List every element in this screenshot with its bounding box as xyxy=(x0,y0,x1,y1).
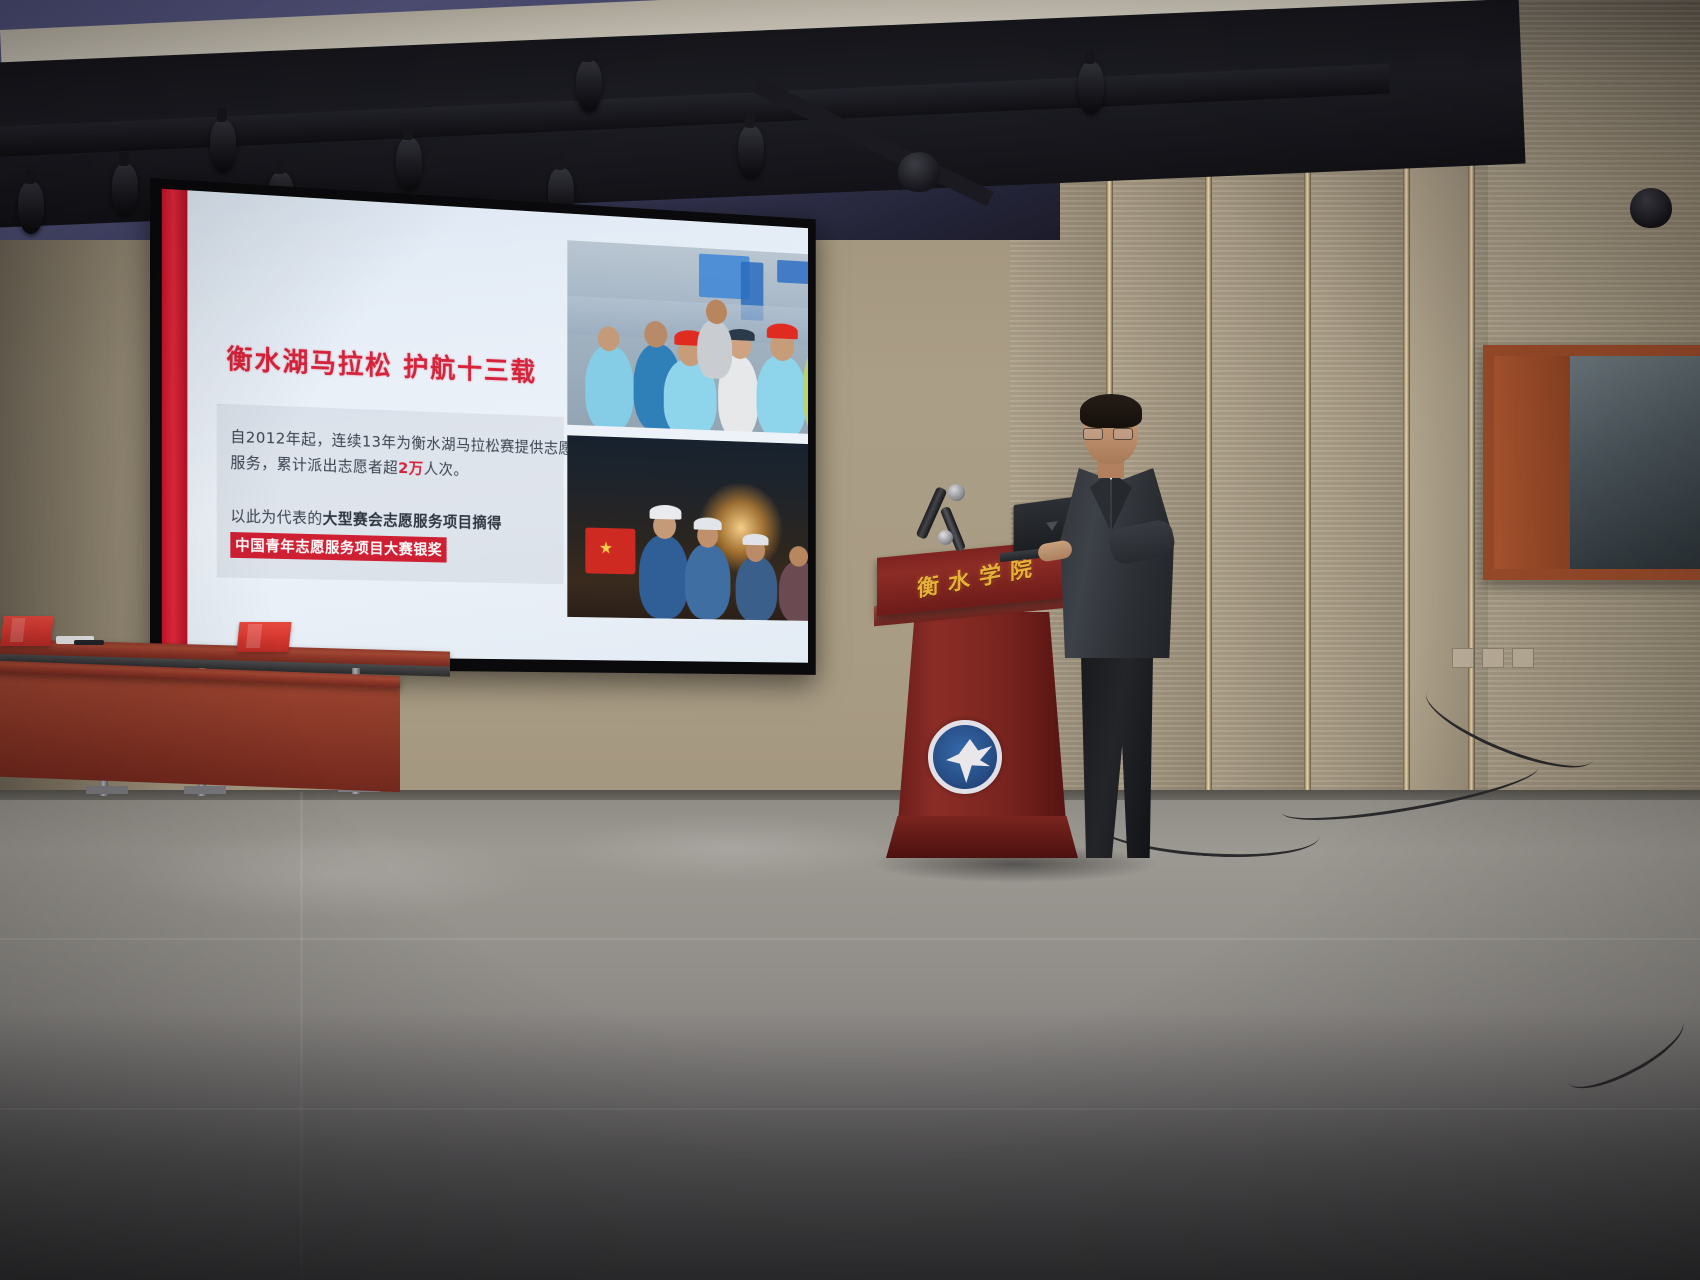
paragraph-2-highlight: 2万 xyxy=(398,459,423,477)
window-jamb xyxy=(1494,356,1574,569)
speaker-hair xyxy=(1080,394,1142,428)
conference-hall-scene: 衡水湖马拉松 护航十三载 自2012年起，连续13年为衡水湖马拉松赛提供志愿 服… xyxy=(0,0,1700,1280)
stage-spotlight-icon xyxy=(576,60,602,112)
presentation-slide: 衡水湖马拉松 护航十三载 自2012年起，连续13年为衡水湖马拉松赛提供志愿 服… xyxy=(162,189,808,663)
floor-reflection xyxy=(120,830,540,920)
speaker-legs xyxy=(1074,650,1160,858)
university-dove-emblem xyxy=(928,720,1002,794)
photo-white-cap xyxy=(743,534,769,546)
floor-seam xyxy=(0,938,1700,940)
stage-spotlight-icon xyxy=(112,164,138,216)
photo-volunteer xyxy=(779,561,808,622)
paragraph-3-bold: 大型赛会志愿服务项目摘得 xyxy=(323,510,502,532)
table-nameplate xyxy=(0,616,53,646)
floor-reflection xyxy=(560,812,900,882)
projection-screen: 衡水湖马拉松 护航十三载 自2012年起，连续13年为衡水湖马拉松赛提供志愿 服… xyxy=(150,178,816,675)
photo-volunteer xyxy=(639,535,688,619)
paragraph-2-prefix: 服务，累计派出志愿者超 xyxy=(230,454,398,477)
microphone-head-icon xyxy=(948,484,965,501)
award-banner: 中国青年志愿服务项目大赛银奖 xyxy=(230,532,447,563)
table-leg xyxy=(184,786,226,794)
lectern-body xyxy=(898,612,1066,822)
photo-volunteer xyxy=(585,344,633,432)
photo-white-cap xyxy=(694,517,722,530)
slide-accent-bar xyxy=(162,189,188,656)
stage-spotlight-icon xyxy=(210,120,236,172)
photo-white-cap xyxy=(650,505,682,520)
slide-paragraph-3: 以此为代表的大型赛会志愿服务项目摘得 xyxy=(230,503,502,536)
photo-flag xyxy=(585,528,635,575)
photo-volunteer xyxy=(685,543,730,619)
photo-person-head xyxy=(789,546,808,567)
photo-person-head xyxy=(644,321,667,349)
stage-spotlight-icon xyxy=(396,138,422,190)
moving-head-light-icon xyxy=(898,152,940,192)
photo-volunteer xyxy=(756,354,806,435)
microphone-head-icon xyxy=(938,530,953,545)
table-nameplate xyxy=(236,622,291,652)
control-room-window xyxy=(1483,345,1700,580)
stage-spotlight-icon xyxy=(18,182,44,234)
photo-tent xyxy=(777,260,808,286)
paragraph-3-prefix: 以此为代表的 xyxy=(230,507,322,527)
floor-foreground-shading xyxy=(0,1010,1700,1280)
wall-outlet xyxy=(1512,648,1534,668)
photo-person-head xyxy=(706,299,727,325)
slide-text-panel: 自2012年起，连续13年为衡水湖马拉松赛提供志愿 服务，累计派出志愿者超2万人… xyxy=(217,404,564,585)
table-leg xyxy=(86,786,128,794)
evening-volunteers-photo xyxy=(567,435,808,621)
slide-title: 衡水湖马拉松 护航十三载 xyxy=(226,337,536,389)
wall-outlet xyxy=(1482,648,1504,668)
speaker-glasses-icon xyxy=(1083,428,1135,440)
stage-spotlight-icon xyxy=(738,126,764,178)
photo-runner xyxy=(697,319,732,379)
stage-spotlight-icon xyxy=(1078,62,1104,114)
marathon-volunteers-photo xyxy=(567,240,808,435)
screen-bezel: 衡水湖马拉松 护航十三载 自2012年起，连续13年为衡水湖马拉松赛提供志愿 服… xyxy=(162,189,808,663)
paragraph-2-suffix: 人次。 xyxy=(424,460,469,479)
photo-person-head xyxy=(598,326,619,352)
desk-pen xyxy=(74,640,104,645)
wall-outlet xyxy=(1452,648,1474,668)
photo-red-cap xyxy=(767,323,798,339)
speaker-person xyxy=(1050,398,1180,858)
moving-head-light-icon xyxy=(1630,188,1672,228)
window-glass xyxy=(1570,356,1700,569)
photo-volunteer xyxy=(736,556,778,622)
